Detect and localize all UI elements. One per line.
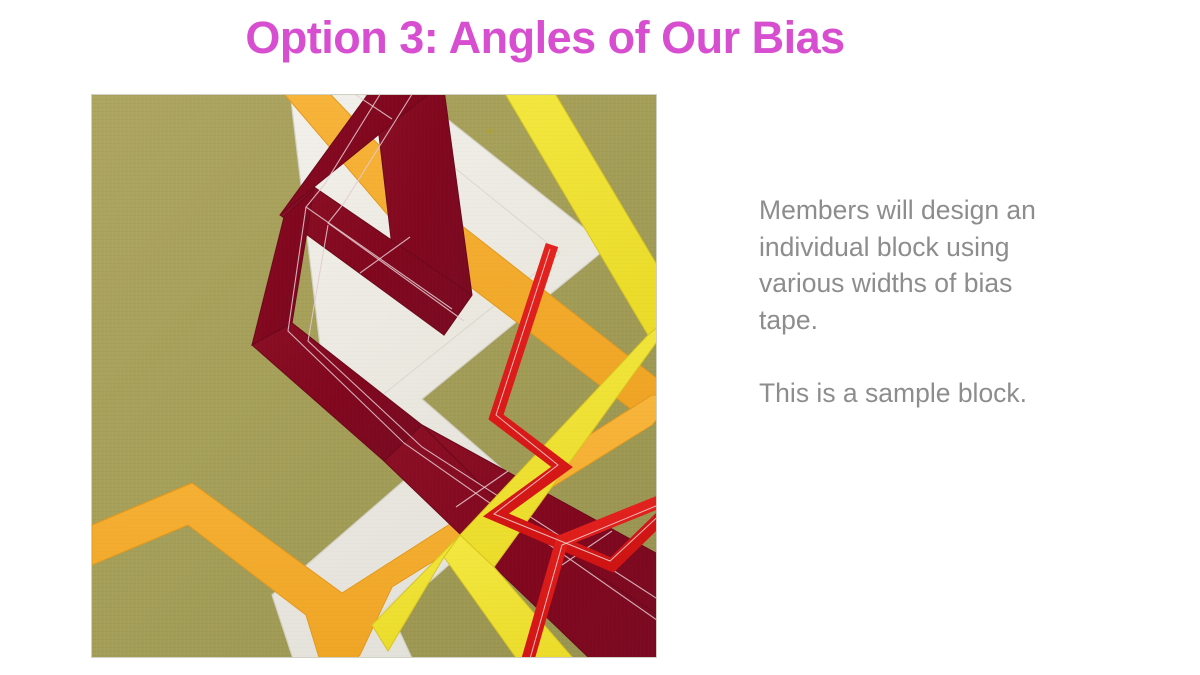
sample-block-photo xyxy=(92,95,656,657)
description-paragraph-1: Members will design an individual block … xyxy=(759,192,1059,338)
description-text-block: Members will design an individual block … xyxy=(759,192,1059,411)
quilt-block-illustration xyxy=(92,95,656,657)
description-paragraph-2: This is a sample block. xyxy=(759,375,1059,412)
page-title: Option 3: Angles of Our Bias xyxy=(0,12,1090,64)
slide-canvas: Option 3: Angles of Our Bias xyxy=(0,0,1200,675)
